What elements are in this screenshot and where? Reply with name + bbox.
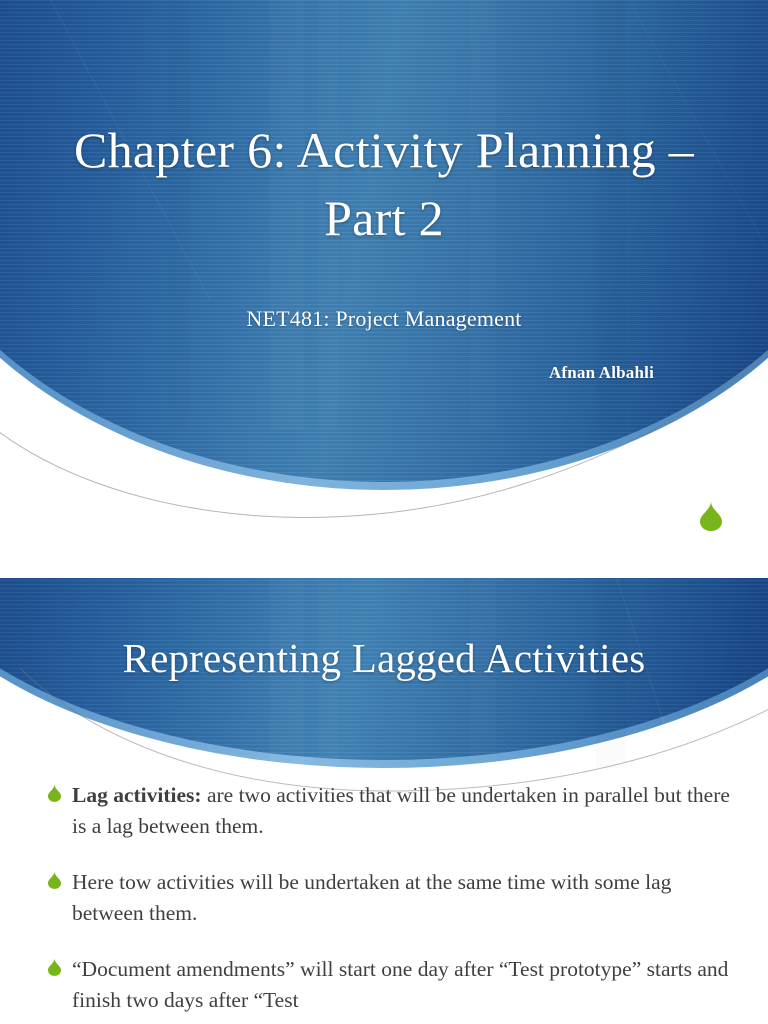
bullet-list: Lag activities: are two activities that … <box>44 780 744 1024</box>
list-item: Lag activities: are two activities that … <box>44 780 744 841</box>
title-slide: Chapter 6: Activity Planning – Part 2 NE… <box>0 0 768 567</box>
content-slide: Representing Lagged Activities Lag activ… <box>0 578 768 1024</box>
green-teardrop-bullet-icon <box>48 958 61 976</box>
slide-deck-page: Chapter 6: Activity Planning – Part 2 NE… <box>0 0 768 1024</box>
green-teardrop-bullet-icon <box>48 784 61 802</box>
page-subtitle: NET481: Project Management <box>64 306 704 332</box>
author-name: Afnan Albahli <box>64 363 654 383</box>
list-item-lead: Lag activities: <box>72 783 202 807</box>
green-teardrop-icon <box>700 501 722 531</box>
green-teardrop-bullet-icon <box>48 871 61 889</box>
slide-heading: Representing Lagged Activities <box>0 634 768 682</box>
list-item: “Document amendments” will start one day… <box>44 954 744 1015</box>
list-item-text: “Document amendments” will start one day… <box>72 957 728 1012</box>
page-title: Chapter 6: Activity Planning – Part 2 <box>64 116 704 252</box>
slide-separator <box>0 567 768 578</box>
list-item-text: Here tow activities will be undertaken a… <box>72 870 671 925</box>
list-item: Here tow activities will be undertaken a… <box>44 867 744 928</box>
